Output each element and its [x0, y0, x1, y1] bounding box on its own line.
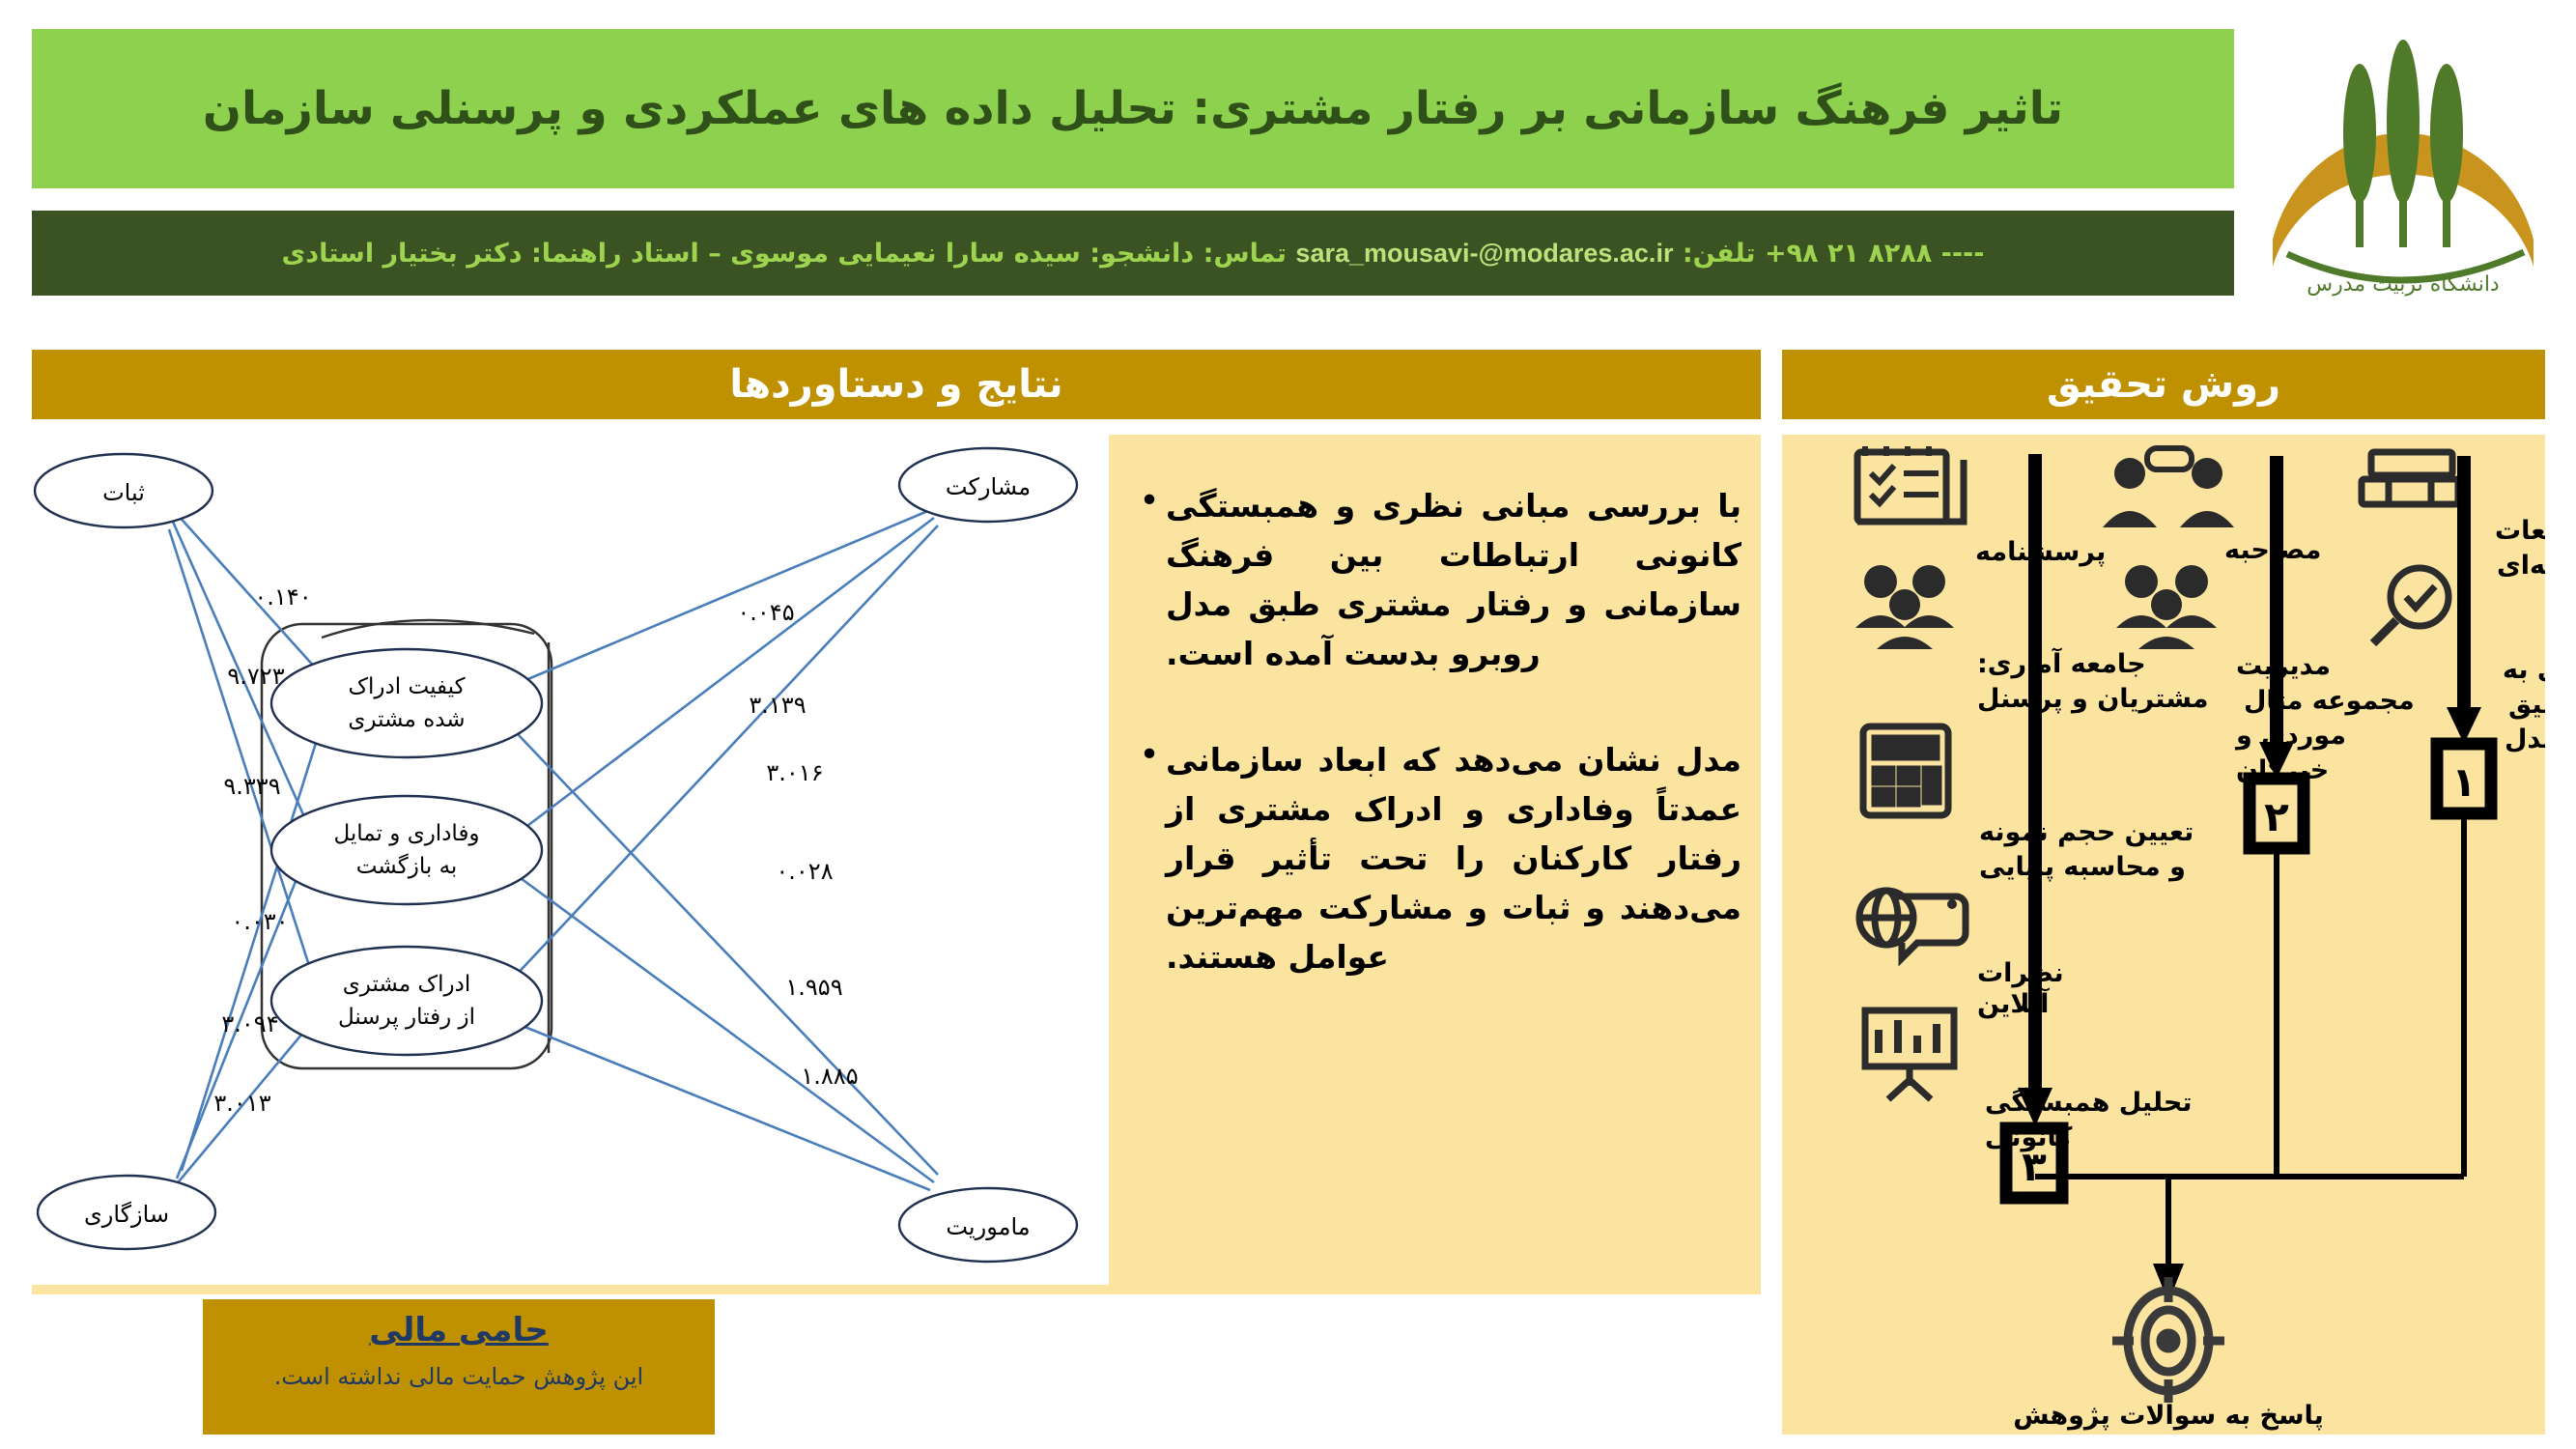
method-step-number-2: ۲ [2264, 793, 2289, 840]
method-step-2-column: مصاحبه مدیریت مجموعه مثال موردی و خبرگان… [2103, 448, 2415, 848]
node-label-vafadari-l1: وفاداری و تمایل [333, 821, 479, 846]
poster-root: تاثیر فرهنگ سازمانی بر رفتار مشتری: تحلی… [0, 0, 2576, 1449]
search-check-icon [2373, 568, 2449, 643]
interview-icon [2103, 448, 2234, 527]
contact-label: تماس: [1203, 239, 1287, 269]
results-header-label: نتایج و دستاوردها [729, 362, 1062, 407]
results-panel: ثبات مشارکت سازگاری ماموریت کیفیت [32, 435, 1761, 1294]
email-link[interactable]: sara_mousavi-@modares.ac.ir [1295, 239, 1673, 268]
method-label-sample-l2: و محاسبه پایایی [1979, 852, 2186, 882]
phone-value: ---- ۸۲۸۸ ۲۱ ۹۸+ [1765, 239, 1985, 269]
coef-right-2: ۳.۰۱۶ [766, 759, 823, 786]
coef-left-4: ۳.۰۹۴ [221, 1010, 278, 1037]
method-label-mgmt-l2: مجموعه مثال [2244, 686, 2415, 716]
group-icon [2116, 565, 2217, 649]
node-label-vafadari-l2: به بازگشت [356, 853, 458, 879]
node-mamoriyat: ماموریت [899, 1188, 1077, 1262]
funding-title: حامی مالی [224, 1311, 694, 1350]
node-vafadari: وفاداری و تمایل به بازگشت [271, 796, 542, 904]
results-bullet-list: با بررسی مبانی نظری و همبستگی کانونی ارت… [1133, 464, 1751, 1265]
node-label-mamoriyat: ماموریت [946, 1213, 1030, 1240]
bullet-text-1: مدل نشان می‌دهد که ابعاد سازمانی عمدتاً … [1166, 735, 1741, 982]
method-label-concepts-l3: و انتخاب مدل [2505, 724, 2545, 754]
node-label-keyfiat-l1: کیفیت ادراک [348, 674, 465, 699]
method-label-concepts-l1: دستیابی به [2503, 655, 2545, 685]
node-label-sazgari: سازگاری [84, 1201, 169, 1228]
coef-right-4: ۱.۹۵۹ [785, 974, 842, 1001]
method-label-reviews-l1: نظرات [1977, 958, 2064, 988]
poster-title-band: تاثیر فرهنگ سازمانی بر رفتار مشتری: تحلی… [32, 29, 2234, 188]
coef-right-3: ۰.۰۲۸ [776, 858, 833, 885]
author-names: دانشجو: سیده سارا نعیمایی موسوی – استاد … [282, 239, 1195, 269]
calculator-icon [1863, 726, 1948, 815]
author-line: ---- ۸۲۸۸ ۲۱ ۹۸+ تلفن: sara_mousavi-@mod… [282, 239, 1985, 269]
author-contact-band: ---- ۸۲۸۸ ۲۱ ۹۸+ تلفن: sara_mousavi-@mod… [32, 211, 2234, 296]
method-label-library-l1: مطالعات [2495, 516, 2545, 546]
university-logo: دانشگاه تربیت مدرس [2244, 17, 2562, 298]
questionnaire-icon [1857, 446, 1964, 522]
coef-right-1: ۳.۱۳۹ [749, 692, 806, 719]
node-label-mosharekat: مشارکت [946, 473, 1031, 500]
funding-box: حامی مالی این پژوهش حمایت مالی نداشته اس… [203, 1299, 715, 1435]
coef-left-5: ۳.۰۱۳ [213, 1090, 270, 1117]
coef-left-0: ۰.۱۴۰ [254, 583, 311, 611]
node-label-edrak-l1: ادراک مشتری [343, 972, 471, 997]
node-label-sebat: ثبات [102, 479, 145, 506]
people-icon [1855, 565, 1954, 649]
node-label-keyfiat-l2: شده مشتری [348, 707, 465, 732]
section-header-results: نتایج و دستاوردها [32, 350, 1761, 419]
node-keyfiat: کیفیت ادراک شده مشتری [271, 649, 542, 757]
method-label-concepts-l2: مفاهیم تحقیق [2508, 690, 2545, 720]
coef-left-3: ۰.۰۳۰ [231, 908, 288, 935]
method-label-sample-l1: تعیین حجم نمونه [1979, 817, 2194, 847]
online-reviews-icon [1859, 891, 1966, 958]
method-step-number-1: ۱ [2451, 758, 2477, 806]
presentation-icon [1865, 1010, 1954, 1099]
method-panel: پرسشنامه جامعه آماری: مشتریان و پرسنل [1782, 435, 2545, 1435]
coef-right-5: ۱.۸۸۵ [801, 1063, 858, 1090]
method-step-1-column: مطالعات کتابخانه‌ای دستیابی به مفاهیم تح… [2362, 452, 2545, 813]
target-icon [2112, 1277, 2224, 1403]
method-label-population-l2: مشتریان و پرسنل [1977, 684, 2209, 714]
node-edrak: ادراک مشتری از رفتار پرسنل [271, 947, 542, 1055]
funding-text: این پژوهش حمایت مالی نداشته است. [224, 1363, 694, 1390]
node-sebat: ثبات [35, 454, 212, 527]
coef-left-2: ۹.۳۳۹ [223, 773, 280, 800]
method-outcome-label: پاسخ به سوالات پژوهش [2013, 1401, 2324, 1431]
coefficients-right: ۰.۰۴۵ ۳.۱۳۹ ۳.۰۱۶ ۰.۰۲۸ ۱.۹۵۹ ۱.۸۸۵ [737, 599, 858, 1090]
node-sazgari: سازگاری [38, 1176, 215, 1249]
node-label-edrak-l2: از رفتار پرسنل [338, 1005, 475, 1030]
page-title: تاثیر فرهنگ سازمانی بر رفتار مشتری: تحلی… [203, 81, 2063, 136]
section-header-method: روش تحقیق [1782, 350, 2545, 419]
method-step-3-column: پرسشنامه جامعه آماری: مشتریان و پرسنل [1855, 446, 2209, 1198]
bullet-marker: • [1133, 735, 1166, 982]
path-model-diagram: ثبات مشارکت سازگاری ماموریت کیفیت [32, 435, 1109, 1285]
bullet-marker: • [1133, 481, 1166, 679]
method-step-number-3: ۳ [2022, 1143, 2047, 1190]
phone-label: تلفن: [1683, 239, 1756, 269]
list-item: مدل نشان می‌دهد که ابعاد سازمانی عمدتاً … [1133, 735, 1741, 982]
coef-left-1: ۹.۷۲۳ [227, 663, 284, 690]
coef-right-0: ۰.۰۴۵ [737, 599, 794, 626]
method-label-library-l2: کتابخانه‌ای [2497, 551, 2545, 581]
bullet-text-0: با بررسی مبانی نظری و همبستگی کانونی ارت… [1166, 481, 1741, 679]
logo-institution-text: دانشگاه تربیت مدرس [2307, 271, 2499, 297]
method-header-label: روش تحقیق [2047, 362, 2280, 407]
books-icon [2362, 452, 2458, 504]
node-mosharekat: مشارکت [899, 448, 1077, 522]
list-item: با بررسی مبانی نظری و همبستگی کانونی ارت… [1133, 481, 1741, 679]
method-label-cca-l1: تحلیل همبستگی [1985, 1087, 2193, 1118]
method-label-population-l1: جامعه آماری: [1977, 647, 2146, 679]
